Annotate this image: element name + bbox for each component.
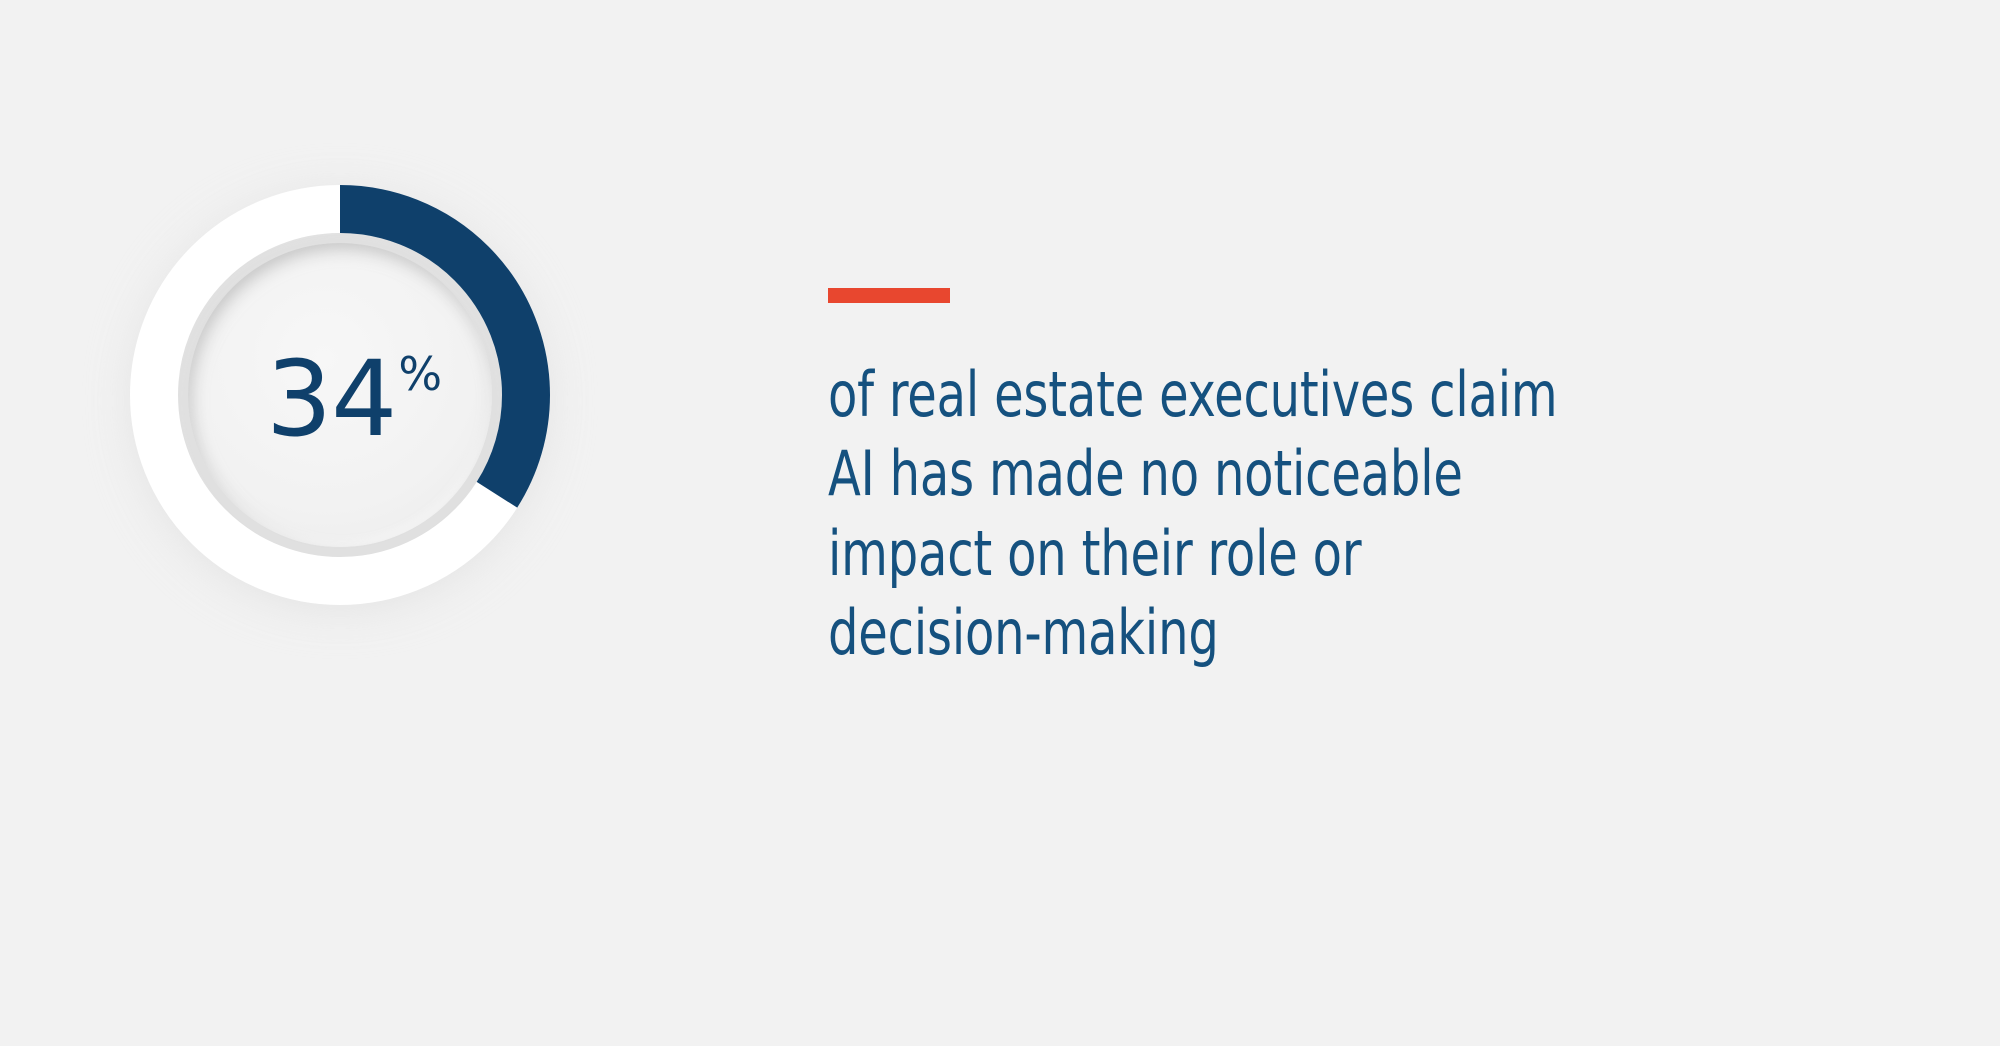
statement-text: of real estate executives claim AI has m… bbox=[828, 355, 1740, 672]
accent-rule-divider bbox=[828, 288, 950, 303]
infographic-canvas: 34 % of real estate executives claim AI … bbox=[0, 0, 2000, 1046]
statement-block: of real estate executives claim AI has m… bbox=[828, 288, 1908, 672]
donut-inner-disc bbox=[188, 243, 492, 547]
donut-chart: 34 % bbox=[130, 185, 550, 605]
